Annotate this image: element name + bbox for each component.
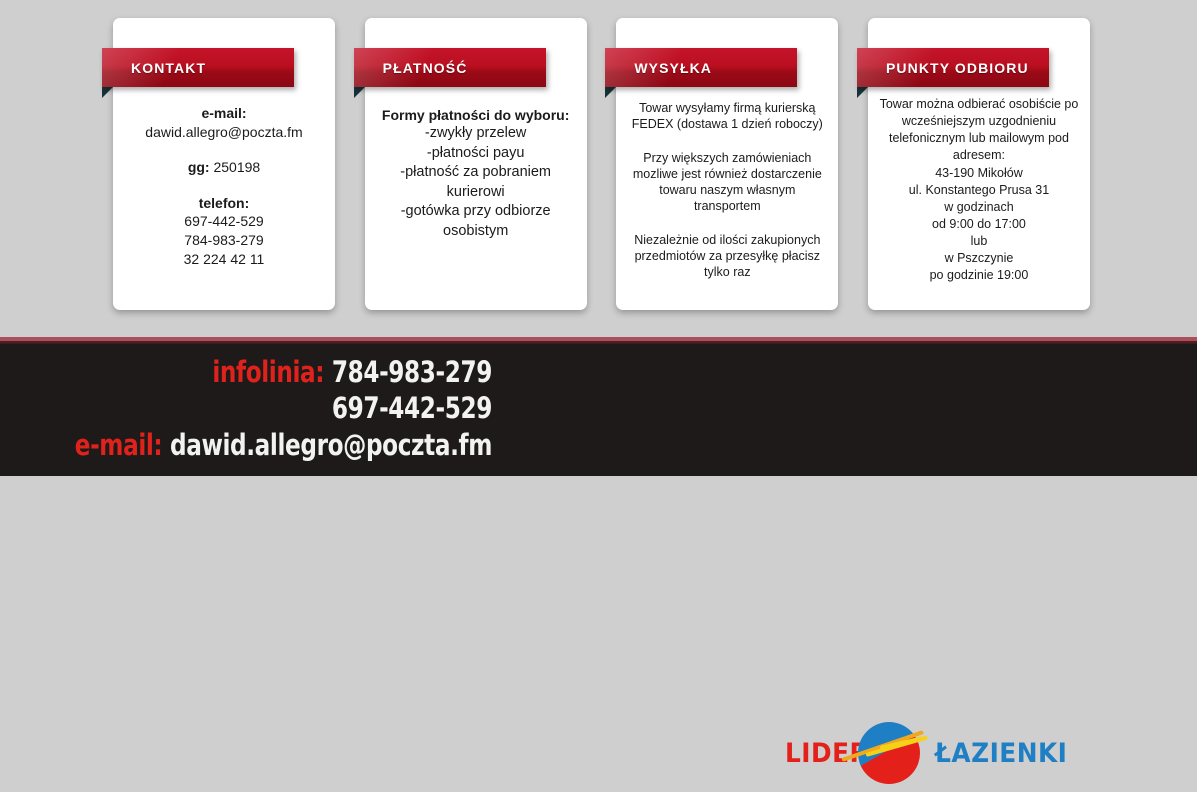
card-title-kontakt: KONTAKT	[102, 60, 206, 76]
card-title-platnosc: PŁATNOŚĆ	[354, 60, 468, 76]
footer-hotline-label: infolinia:	[212, 355, 324, 389]
card-punkty-odbioru: PUNKTY ODBIORU Towar można odbierać osob…	[868, 18, 1090, 310]
card-ribbon-kontakt: KONTAKT	[102, 48, 294, 87]
section-divider	[0, 337, 1197, 344]
card-kontakt: KONTAKT e-mail: dawid.allegro@poczta.fm …	[113, 18, 335, 310]
email-value[interactable]: dawid.allegro@poczta.fm	[122, 123, 326, 142]
ribbon-fold-icon	[354, 87, 365, 98]
spacer	[625, 215, 829, 232]
gg-row: gg: 250198	[122, 158, 326, 177]
pickup-line-6: w Pszczynie	[877, 250, 1081, 267]
footer-email-row: e-mail: dawid.allegro@poczta.fm	[60, 427, 492, 463]
payment-option-3: -płatność za pobraniem kurierowi	[374, 163, 578, 202]
footer-bar: infolinia: 784-983-279 697-442-529 e-mai…	[0, 344, 1197, 476]
card-body-wysylka: Towar wysyłamy firmą kurierską FEDEX (do…	[616, 100, 838, 280]
pickup-line-4: od 9:00 do 17:00	[877, 216, 1081, 233]
gg-label: gg:	[188, 159, 210, 175]
ribbon-fold-icon	[857, 87, 868, 98]
spacer	[122, 141, 326, 158]
email-label-text: e-mail:	[201, 105, 246, 121]
phone-label-text: telefon:	[199, 195, 250, 211]
phone-3[interactable]: 32 224 42 11	[122, 250, 326, 269]
brand-logo[interactable]: LIDER ŁAZIENKI	[785, 722, 1085, 792]
logo-word-lazienki: ŁAZIENKI	[935, 738, 1067, 769]
phone-1[interactable]: 697-442-529	[122, 212, 326, 231]
spacer	[122, 177, 326, 194]
footer-hotline-secondary-row: 697-442-529	[60, 390, 492, 426]
card-ribbon-wysylka: WYSYŁKA	[605, 48, 797, 87]
footer-hotline-secondary[interactable]: 697-442-529	[332, 391, 492, 425]
gg-value: 250198	[213, 159, 260, 175]
pickup-line-3: w godzinach	[877, 199, 1081, 216]
phone-label: telefon:	[122, 194, 326, 213]
ribbon-fold-icon	[605, 87, 616, 98]
card-title-punkty: PUNKTY ODBIORU	[857, 60, 1029, 76]
logo-mark-icon	[858, 722, 920, 784]
payment-option-1: -zwykły przelew	[374, 124, 578, 144]
card-body-kontakt: e-mail: dawid.allegro@poczta.fm gg: 2501…	[113, 104, 335, 268]
shipping-paragraph-2: Przy większych zamówieniach mozliwe jest…	[625, 150, 829, 215]
footer-email-label: e-mail:	[75, 428, 163, 462]
spacer	[625, 133, 829, 150]
email-label: e-mail:	[122, 104, 326, 123]
info-panel: KONTAKT e-mail: dawid.allegro@poczta.fm …	[0, 0, 1197, 337]
footer-hotline-row: infolinia: 784-983-279	[60, 354, 492, 390]
card-body-platnosc: Formy płatności do wyboru: -zwykły przel…	[365, 106, 587, 242]
card-title-wysylka: WYSYŁKA	[605, 60, 712, 76]
phone-2[interactable]: 784-983-279	[122, 231, 326, 250]
card-ribbon-platnosc: PŁATNOŚĆ	[354, 48, 546, 87]
payment-heading: Formy płatności do wyboru:	[374, 106, 578, 124]
card-wysylka: WYSYŁKA Towar wysyłamy firmą kurierską F…	[616, 18, 838, 310]
cards-row: KONTAKT e-mail: dawid.allegro@poczta.fm …	[113, 18, 1090, 310]
shipping-paragraph-3: Niezależnie od ilości zakupionych przedm…	[625, 232, 829, 281]
pickup-line-5: lub	[877, 233, 1081, 250]
pickup-line-2: ul. Konstantego Prusa 31	[877, 182, 1081, 199]
card-ribbon-punkty: PUNKTY ODBIORU	[857, 48, 1049, 87]
pickup-intro: Towar można odbierać osobiście po wcześn…	[877, 96, 1081, 165]
card-platnosc: PŁATNOŚĆ Formy płatności do wyboru: -zwy…	[365, 18, 587, 310]
ribbon-fold-icon	[102, 87, 113, 98]
payment-option-4: -gotówka przy odbiorze osobistym	[374, 202, 578, 241]
card-body-punkty: Towar można odbierać osobiście po wcześn…	[868, 96, 1090, 284]
pickup-line-7: po godzinie 19:00	[877, 267, 1081, 284]
footer-email-value[interactable]: dawid.allegro@poczta.fm	[170, 428, 492, 462]
payment-option-2: -płatności payu	[374, 144, 578, 164]
pickup-line-1: 43-190 Mikołów	[877, 165, 1081, 182]
shipping-paragraph-1: Towar wysyłamy firmą kurierską FEDEX (do…	[625, 100, 829, 133]
footer-hotline-primary[interactable]: 784-983-279	[332, 355, 492, 389]
footer-contact-block: infolinia: 784-983-279 697-442-529 e-mai…	[60, 354, 492, 463]
